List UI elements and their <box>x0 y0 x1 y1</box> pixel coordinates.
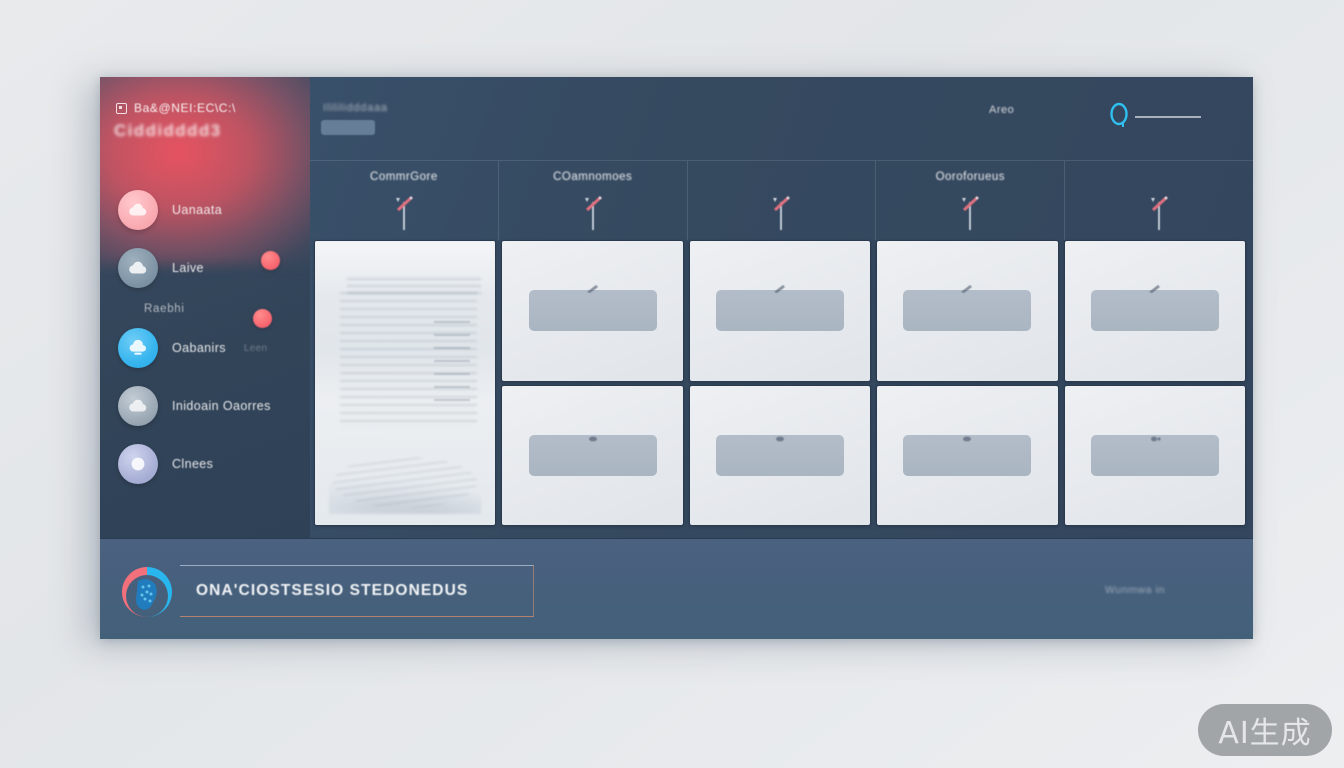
sidebar-item-label: Laive <box>172 261 204 275</box>
card-r1c3[interactable] <box>689 240 871 382</box>
card-grid <box>310 240 1250 526</box>
card-placeholder-bar <box>1091 290 1219 331</box>
photo-tickmarks <box>434 321 470 412</box>
pin-icon <box>959 282 975 294</box>
notification-badge <box>261 251 280 270</box>
app-window: Ba&@NEI:EC\C:\ Ciddidddd3 Uanaata Laive <box>100 77 1253 639</box>
sort-marker-icon <box>387 190 421 230</box>
sort-marker-icon <box>1142 190 1176 230</box>
column-title: Ooroforueus <box>936 171 1005 185</box>
ai-generated-watermark: AI生成 <box>1198 704 1332 756</box>
sidebar-item-inidoain-oaorres[interactable]: Inidoain Oaorres <box>100 377 310 435</box>
column-title: CommrGore <box>370 171 438 185</box>
pin-icon <box>1147 431 1163 443</box>
footer-banner: ONA'CIOSTSESIO STEDONEDUS Wunmwa in <box>100 538 1253 639</box>
circle-icon <box>118 444 158 484</box>
sort-marker-icon <box>576 190 610 230</box>
cloud-icon <box>118 386 158 426</box>
sidebar-nav: Uanaata Laive Raebhi Oabanirs Leen <box>100 181 310 493</box>
content-area: Ilililidddaaa Areo CommrGore <box>310 77 1253 538</box>
cloud-icon <box>118 248 158 288</box>
card-r2c3[interactable] <box>689 385 871 527</box>
column-title: COamnomoes <box>553 171 632 185</box>
cloud-icon <box>118 190 158 230</box>
brand-subtitle: Ciddidddd3 <box>114 121 221 141</box>
card-r1c2[interactable] <box>501 240 683 382</box>
watermark-label: AI生成 <box>1218 708 1311 752</box>
card-placeholder-bar <box>529 290 657 331</box>
main-area: Ba&@NEI:EC\C:\ Ciddidddd3 Uanaata Laive <box>100 77 1253 538</box>
sidebar-item-laive[interactable]: Laive <box>100 239 310 297</box>
card-grid-wrapper <box>310 240 1253 538</box>
brand-circle-logo[interactable] <box>114 561 180 623</box>
topbar-user-label[interactable]: Areo <box>989 104 1014 116</box>
pin-icon <box>1147 282 1163 294</box>
column-header-1[interactable]: CommrGore <box>310 161 499 240</box>
column-header-3[interactable] <box>688 161 877 240</box>
card-r2c2[interactable] <box>501 385 683 527</box>
sidebar-item-label: Inidoain Oaorres <box>172 399 271 413</box>
grid-icon <box>116 103 127 114</box>
topbar: Ilililidddaaa Areo <box>310 77 1253 160</box>
sidebar-item-label: Clnees <box>172 457 213 471</box>
sidebar: Ba&@NEI:EC\C:\ Ciddidddd3 Uanaata Laive <box>100 77 310 538</box>
notification-badge <box>253 309 272 328</box>
card-r1c5[interactable] <box>1064 240 1246 382</box>
brand[interactable]: Ba&@NEI:EC\C:\ <box>116 101 236 115</box>
card-placeholder-bar <box>716 290 844 331</box>
column-header-5[interactable] <box>1065 161 1253 240</box>
sidebar-item-sublabel: Leen <box>244 343 267 354</box>
brand-name: Ba&@NEI:EC\C:\ <box>134 101 236 115</box>
pin-icon <box>772 431 788 443</box>
sidebar-item-label: Uanaata <box>172 203 222 217</box>
card-r2c5[interactable] <box>1064 385 1246 527</box>
document-photo <box>315 241 495 525</box>
pin-icon <box>585 431 601 443</box>
sidebar-item-clnees[interactable]: Clnees <box>100 435 310 493</box>
column-header-4[interactable]: Ooroforueus <box>876 161 1065 240</box>
pin-icon <box>585 282 601 294</box>
pin-icon <box>959 431 975 443</box>
search-icon <box>1108 100 1134 134</box>
photo-card[interactable] <box>314 240 496 526</box>
topbar-label: Ilililidddaaa <box>323 102 388 114</box>
search-bar[interactable] <box>1108 100 1201 134</box>
card-r1c4[interactable] <box>876 240 1058 382</box>
photo-wave-lines <box>333 457 477 508</box>
card-r2c4[interactable] <box>876 385 1058 527</box>
footer-banner-box: ONA'CIOSTSESIO STEDONEDUS <box>180 565 534 617</box>
footer-right-text: Wunmwa in <box>1105 584 1165 596</box>
topbar-chip[interactable] <box>321 120 375 135</box>
sidebar-item-label: Oabanirs <box>172 341 226 355</box>
search-input-rule[interactable] <box>1135 116 1201 117</box>
sort-marker-icon <box>764 190 798 230</box>
column-header-2[interactable]: COamnomoes <box>499 161 688 240</box>
sidebar-item-oabanirs[interactable]: Oabanirs Leen <box>100 319 310 377</box>
column-headers: CommrGore COamnomoes <box>310 160 1253 240</box>
card-placeholder-bar <box>903 290 1031 331</box>
sidebar-item-uanaata[interactable]: Uanaata <box>100 181 310 239</box>
sidebar-section-label: Raebhi <box>100 297 310 319</box>
sort-marker-icon <box>953 190 987 230</box>
footer-banner-text: ONA'CIOSTSESIO STEDONEDUS <box>196 582 468 600</box>
cloud-upload-icon <box>118 328 158 368</box>
pin-icon <box>772 282 788 294</box>
